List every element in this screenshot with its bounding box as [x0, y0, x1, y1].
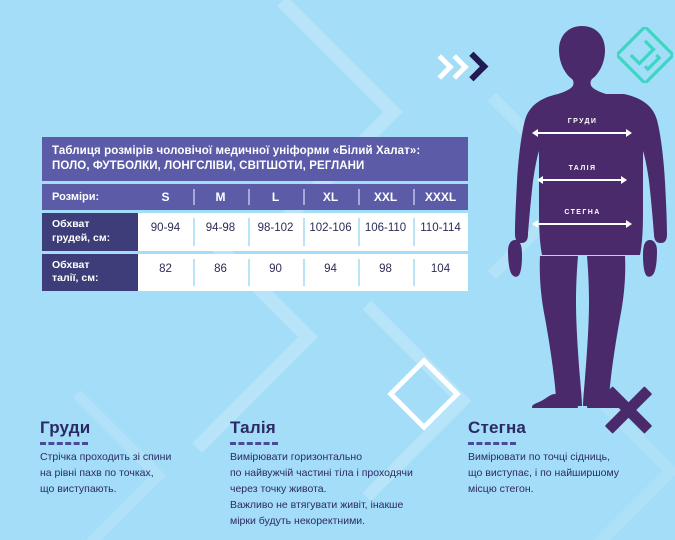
caption-divider [468, 442, 516, 445]
caption-divider [230, 442, 278, 445]
caption-body-waist: Вимірювати горизонтально по найвужчій ча… [230, 450, 468, 530]
caption-line: що виступає, і по найширшому [468, 466, 673, 482]
table-row-waist: Обхват талії, см: 82 86 90 94 98 104 [42, 254, 468, 291]
infographic-canvas: ГРУДИ ТАЛІЯ СТЕГНА Таблиця розмірів чоло… [0, 0, 675, 540]
caption-line: місцю стегон. [468, 482, 673, 498]
table-row-label-line2: грудей, см: [52, 232, 138, 246]
caption-title-hips: Стегна [468, 418, 673, 438]
table-row-cells-chest: 90-94 94-98 98-102 102-106 106-110 110-1… [138, 213, 468, 250]
measurement-arrow-waist [542, 179, 622, 181]
measurement-label-hips: СТЕГНА [495, 209, 670, 216]
table-row-label-line2: талії, см: [52, 272, 138, 286]
chevron-arrows-decoration [432, 52, 492, 80]
table-title-line1: Таблиця розмірів чоловічої медичної уніф… [52, 144, 458, 159]
table-size-cells: S M L XL XXL XXXL [138, 184, 468, 210]
table-title-line2: ПОЛО, ФУТБОЛКИ, ЛОНГСЛІВИ, СВІТШОТИ, РЕГ… [52, 159, 458, 174]
size-table: Таблиця розмірів чоловічої медичної уніф… [42, 137, 468, 291]
caption-waist: Талія Вимірювати горизонтально по найвуж… [230, 418, 468, 530]
table-row-label-line1: Обхват [52, 218, 138, 232]
table-header-row: Розміри: S M L XL XXL XXXL [42, 184, 468, 210]
table-header-label: Розміри: [42, 184, 138, 210]
table-cell: 90 [248, 254, 303, 291]
table-size-header-cell: M [193, 184, 248, 210]
table-title: Таблиця розмірів чоловічої медичної уніф… [42, 137, 468, 181]
caption-line: на рівні пахв по точках, [40, 466, 225, 482]
caption-body-hips: Вимірювати по точці сідниць, що виступає… [468, 450, 673, 498]
table-size-header-cell: L [248, 184, 303, 210]
table-size-header-cell: S [138, 184, 193, 210]
table-header-label-text: Розміри: [52, 190, 138, 204]
caption-line: по найвужчій частині тіла і проходячи [230, 466, 468, 482]
table-cell: 98 [358, 254, 413, 291]
caption-chest: Груди Стрічка проходить зі спини на рівн… [40, 418, 225, 498]
male-body-silhouette: ГРУДИ ТАЛІЯ СТЕГНА [495, 18, 670, 408]
caption-body-chest: Стрічка проходить зі спини на рівні пахв… [40, 450, 225, 498]
table-cell: 106-110 [358, 213, 413, 250]
caption-line: що виступають. [40, 482, 225, 498]
table-size-header-cell: XXXL [413, 184, 468, 210]
caption-title-waist: Талія [230, 418, 468, 438]
table-cell: 94-98 [193, 213, 248, 250]
chevron-right-icon [459, 52, 489, 82]
caption-divider [40, 442, 88, 445]
caption-line: Важливо не втягувати живіт, інакше [230, 498, 468, 514]
measurement-label-waist: ТАЛІЯ [495, 165, 670, 172]
table-size-header-cell: XXL [358, 184, 413, 210]
table-cell: 104 [413, 254, 468, 291]
measurement-arrow-chest [537, 132, 627, 134]
caption-line: через точку живота. [230, 482, 468, 498]
caption-line: Стрічка проходить зі спини [40, 450, 225, 466]
measurement-label-chest: ГРУДИ [495, 118, 670, 125]
table-cell: 94 [303, 254, 358, 291]
table-cell: 110-114 [413, 213, 468, 250]
caption-line: Вимірювати горизонтально [230, 450, 468, 466]
table-cell: 86 [193, 254, 248, 291]
caption-title-chest: Груди [40, 418, 225, 438]
table-size-header-cell: XL [303, 184, 358, 210]
measurement-arrow-hips [537, 223, 627, 225]
table-row-chest: Обхват грудей, см: 90-94 94-98 98-102 10… [42, 213, 468, 250]
table-row-label-chest: Обхват грудей, см: [42, 213, 138, 250]
caption-hips: Стегна Вимірювати по точці сідниць, що в… [468, 418, 673, 498]
table-cell: 98-102 [248, 213, 303, 250]
table-row-cells-waist: 82 86 90 94 98 104 [138, 254, 468, 291]
table-row-label-line1: Обхват [52, 259, 138, 273]
table-cell: 102-106 [303, 213, 358, 250]
table-cell: 82 [138, 254, 193, 291]
table-row-label-waist: Обхват талії, см: [42, 254, 138, 291]
caption-line: Вимірювати по точці сідниць, [468, 450, 673, 466]
caption-line: мірки будуть некоректними. [230, 514, 468, 530]
table-cell: 90-94 [138, 213, 193, 250]
